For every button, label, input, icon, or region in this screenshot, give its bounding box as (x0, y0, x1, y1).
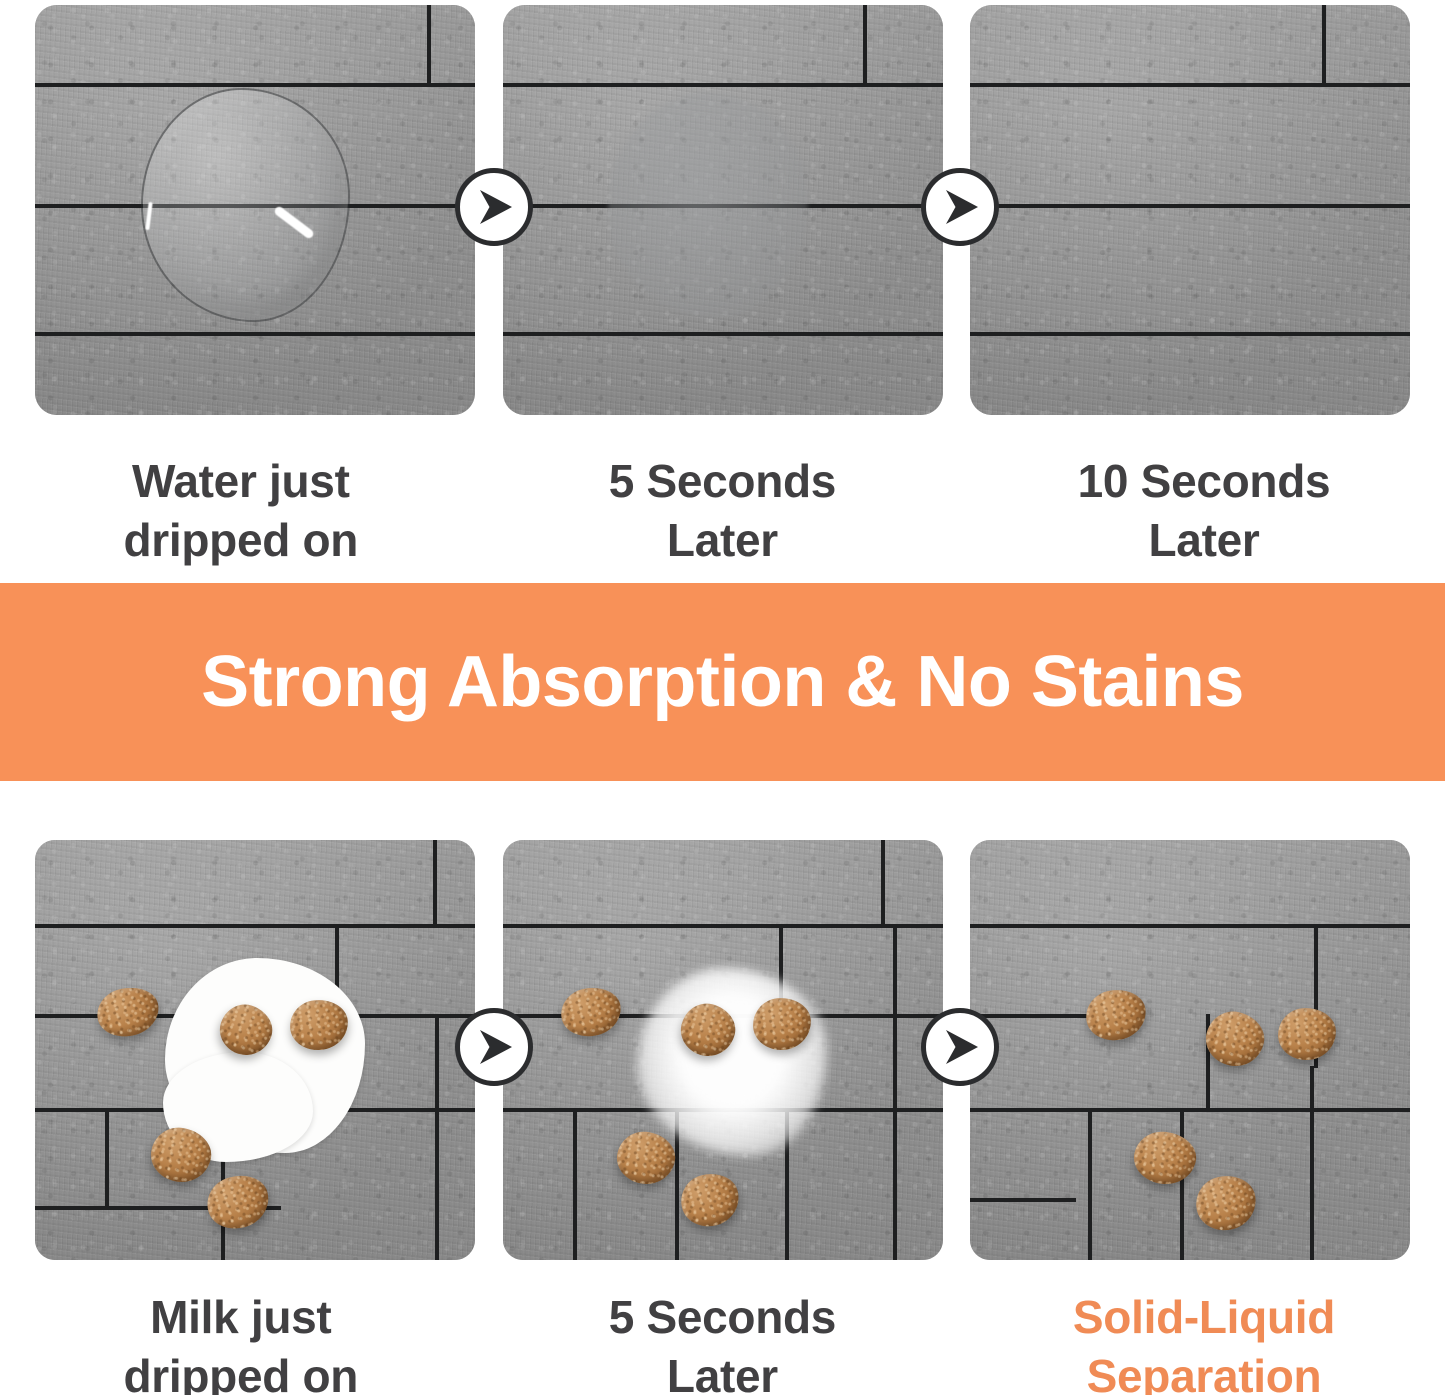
water-droplet (143, 90, 348, 320)
caption-line: dripped on (0, 511, 482, 570)
arrow-right-chevron-icon (935, 182, 985, 232)
grout-line-vertical (1310, 1066, 1314, 1260)
panel-water-10-seconds (970, 5, 1410, 415)
grout-line-vertical (863, 5, 867, 85)
arrow-right-icon (455, 168, 533, 246)
caption-solid-liquid-separation: Solid-Liquid Separation (963, 1288, 1445, 1395)
grout-line-vertical (573, 1108, 577, 1260)
caption-line: 10 Seconds (963, 452, 1445, 511)
arrow-right-chevron-icon (469, 1022, 519, 1072)
caption-line: Later (482, 511, 964, 570)
grout-line-horizontal (970, 204, 1410, 208)
arrow-right-icon (921, 168, 999, 246)
panel-milk-just-dripped (35, 840, 475, 1260)
caption-water-5-seconds: 5 Seconds Later (482, 452, 964, 570)
grout-line-horizontal (970, 332, 1410, 336)
grout-line-vertical (1180, 1108, 1184, 1260)
caption-line: dripped on (0, 1347, 482, 1395)
caption-line: Milk just (0, 1288, 482, 1347)
panel-solid-liquid-separation (970, 840, 1410, 1260)
caption-line: 5 Seconds (482, 1288, 964, 1347)
grout-line-vertical (105, 1108, 109, 1208)
arrow-right-chevron-icon (935, 1022, 985, 1072)
headline-banner-text: Strong Absorption & No Stains (201, 641, 1244, 723)
caption-milk-just-dripped: Milk just dripped on (0, 1288, 482, 1395)
top-row-captions: Water just dripped on 5 Seconds Later 10… (0, 452, 1445, 570)
infographic-page: Water just dripped on 5 Seconds Later 10… (0, 0, 1445, 1395)
grout-line-horizontal (970, 1198, 1076, 1202)
caption-line: Water just (0, 452, 482, 511)
grout-line-horizontal (970, 1108, 1410, 1112)
caption-milk-5-seconds: 5 Seconds Later (482, 1288, 964, 1395)
caption-line: Later (482, 1347, 964, 1395)
grout-line-horizontal (970, 924, 1410, 928)
grout-line-horizontal (503, 83, 943, 87)
arrow-right-icon (921, 1008, 999, 1086)
droplet-highlight (273, 205, 315, 240)
arrow-right-icon (455, 1008, 533, 1086)
grout-line-horizontal (35, 332, 475, 336)
grout-line-horizontal (970, 1014, 1102, 1018)
grout-line-vertical (1088, 1108, 1092, 1260)
panel-milk-5-seconds (503, 840, 943, 1260)
water-absorption-panel-row (0, 5, 1445, 415)
caption-line: Separation (963, 1347, 1445, 1395)
caption-water-just-dripped: Water just dripped on (0, 452, 482, 570)
grout-line-horizontal (35, 924, 475, 928)
grout-line-horizontal (970, 83, 1410, 87)
damp-patch (608, 93, 808, 318)
caption-line: Later (963, 511, 1445, 570)
caption-water-10-seconds: 10 Seconds Later (963, 452, 1445, 570)
headline-banner: Strong Absorption & No Stains (0, 583, 1445, 781)
grout-line-vertical (893, 924, 897, 1260)
droplet-highlight (145, 202, 152, 230)
grout-line-vertical (433, 840, 437, 926)
grout-line-horizontal (503, 924, 943, 928)
bottom-row-captions: Milk just dripped on 5 Seconds Later Sol… (0, 1288, 1445, 1395)
grout-line-vertical (435, 1016, 439, 1260)
arrow-right-chevron-icon (469, 182, 519, 232)
caption-line: 5 Seconds (482, 452, 964, 511)
grout-line-vertical (881, 840, 885, 926)
grout-line-horizontal (503, 332, 943, 336)
grout-line-horizontal (35, 83, 475, 87)
grout-line-vertical (1322, 5, 1326, 85)
panel-water-just-dripped (35, 5, 475, 415)
caption-line: Solid-Liquid (963, 1288, 1445, 1347)
mat-surface-texture (970, 840, 1410, 1260)
milk-absorption-panel-row (0, 840, 1445, 1260)
panel-water-5-seconds (503, 5, 943, 415)
grout-line-vertical (427, 5, 431, 85)
mat-surface-texture (970, 5, 1410, 415)
